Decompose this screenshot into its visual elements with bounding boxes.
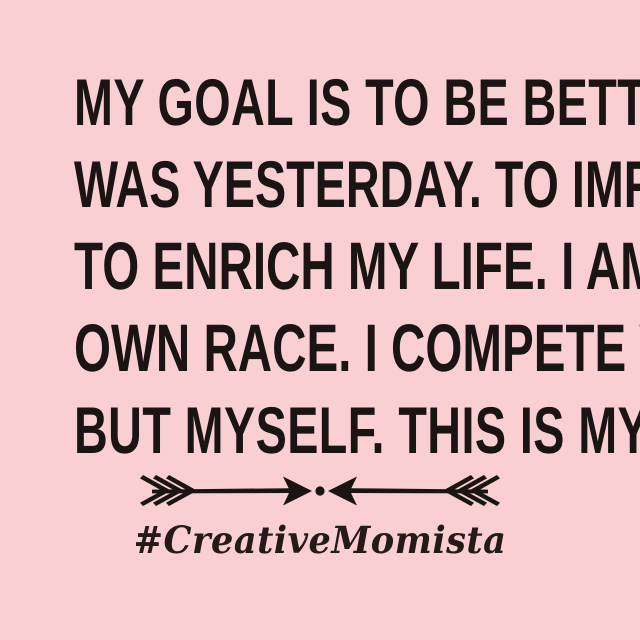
double-arrow-divider-icon [140,468,500,514]
quote-line: MY GOAL IS TO BE BETTER THAN I [74,55,566,150]
signature-hashtag: #CreativeMomista [16,518,624,562]
quote-text-block: MY GOAL IS TO BE BETTER THAN I WAS YESTE… [0,62,640,472]
quote-line: TO ENRICH MY LIFE. I AM RUNNING MY [74,219,566,314]
quote-line: BUT MYSELF. THIS IS MY JOURNEY. [74,383,566,478]
quote-line: OWN RACE. I COMPETE WITH NO ONE [74,301,566,396]
quote-card: MY GOAL IS TO BE BETTER THAN I WAS YESTE… [0,0,640,640]
quote-line: WAS YESTERDAY. TO IMPROVE MYSELF. [74,137,566,232]
